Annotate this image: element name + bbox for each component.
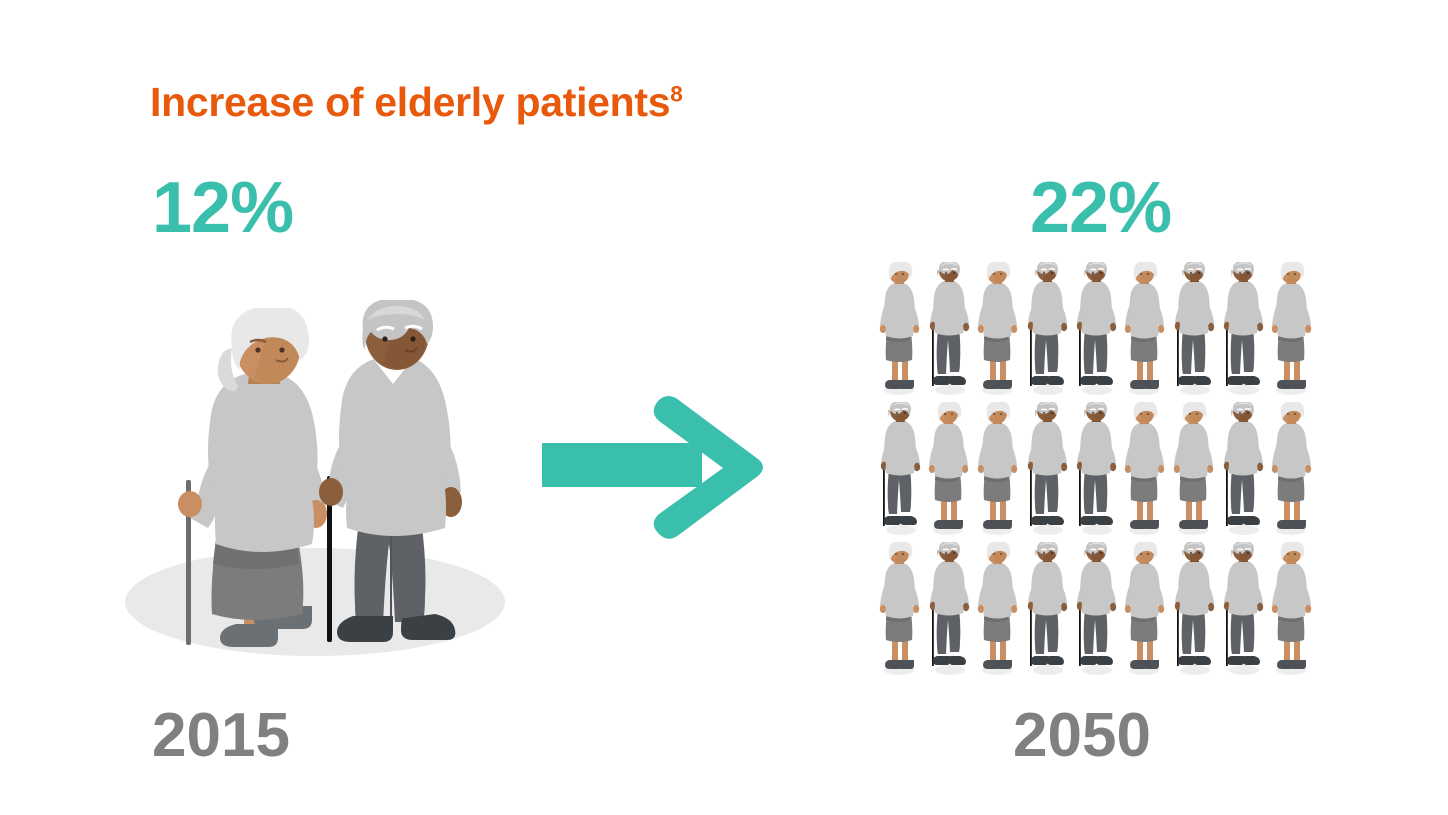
crowd-figure-female <box>1120 542 1169 682</box>
crowd-figure-male <box>1169 262 1218 402</box>
crowd-figure-male <box>875 402 924 542</box>
elderly-man-figure-icon <box>295 300 495 650</box>
crowd-figure-male <box>924 542 973 682</box>
crowd-figure-female <box>1169 402 1218 542</box>
page-title: Increase of elderly patients8 <box>150 82 683 123</box>
crowd-figure-male <box>1218 542 1267 682</box>
crowd-figure-female <box>973 542 1022 682</box>
crowd-figure-female <box>1267 402 1316 542</box>
percent-2050: 22% <box>1030 172 1171 244</box>
crowd-figure-male <box>1218 262 1267 402</box>
crowd-figure-female <box>875 542 924 682</box>
crowd-figure-male <box>1071 402 1120 542</box>
crowd-figure-male <box>1022 262 1071 402</box>
crowd-figure-female <box>973 262 1022 402</box>
crowd-figure-male <box>1071 262 1120 402</box>
percent-2015: 12% <box>152 172 293 244</box>
crowd-figure-female <box>1120 262 1169 402</box>
title-footnote-marker: 8 <box>670 81 683 106</box>
crowd-figure-male <box>1071 542 1120 682</box>
crowd-figure-female <box>875 262 924 402</box>
crowd-figure-female <box>1267 262 1316 402</box>
crowd-figure-female <box>1267 542 1316 682</box>
crowd-figure-male <box>1169 542 1218 682</box>
year-label-2015: 2015 <box>152 705 290 767</box>
left-figure-group <box>110 300 510 660</box>
year-label-2050: 2050 <box>1013 705 1151 767</box>
page-title-text: Increase of elderly patients <box>150 79 670 125</box>
crowd-figure-male <box>924 262 973 402</box>
infographic-slide: Increase of elderly patients8 12% 22% <box>0 0 1448 815</box>
crowd-figure-grid <box>875 262 1316 682</box>
crowd-figure-female <box>1120 402 1169 542</box>
crowd-figure-male <box>1022 542 1071 682</box>
crowd-figure-female <box>924 402 973 542</box>
crowd-figure-female <box>973 402 1022 542</box>
crowd-figure-male <box>1022 402 1071 542</box>
crowd-figure-male <box>1218 402 1267 542</box>
right-arrow-icon <box>540 395 770 540</box>
